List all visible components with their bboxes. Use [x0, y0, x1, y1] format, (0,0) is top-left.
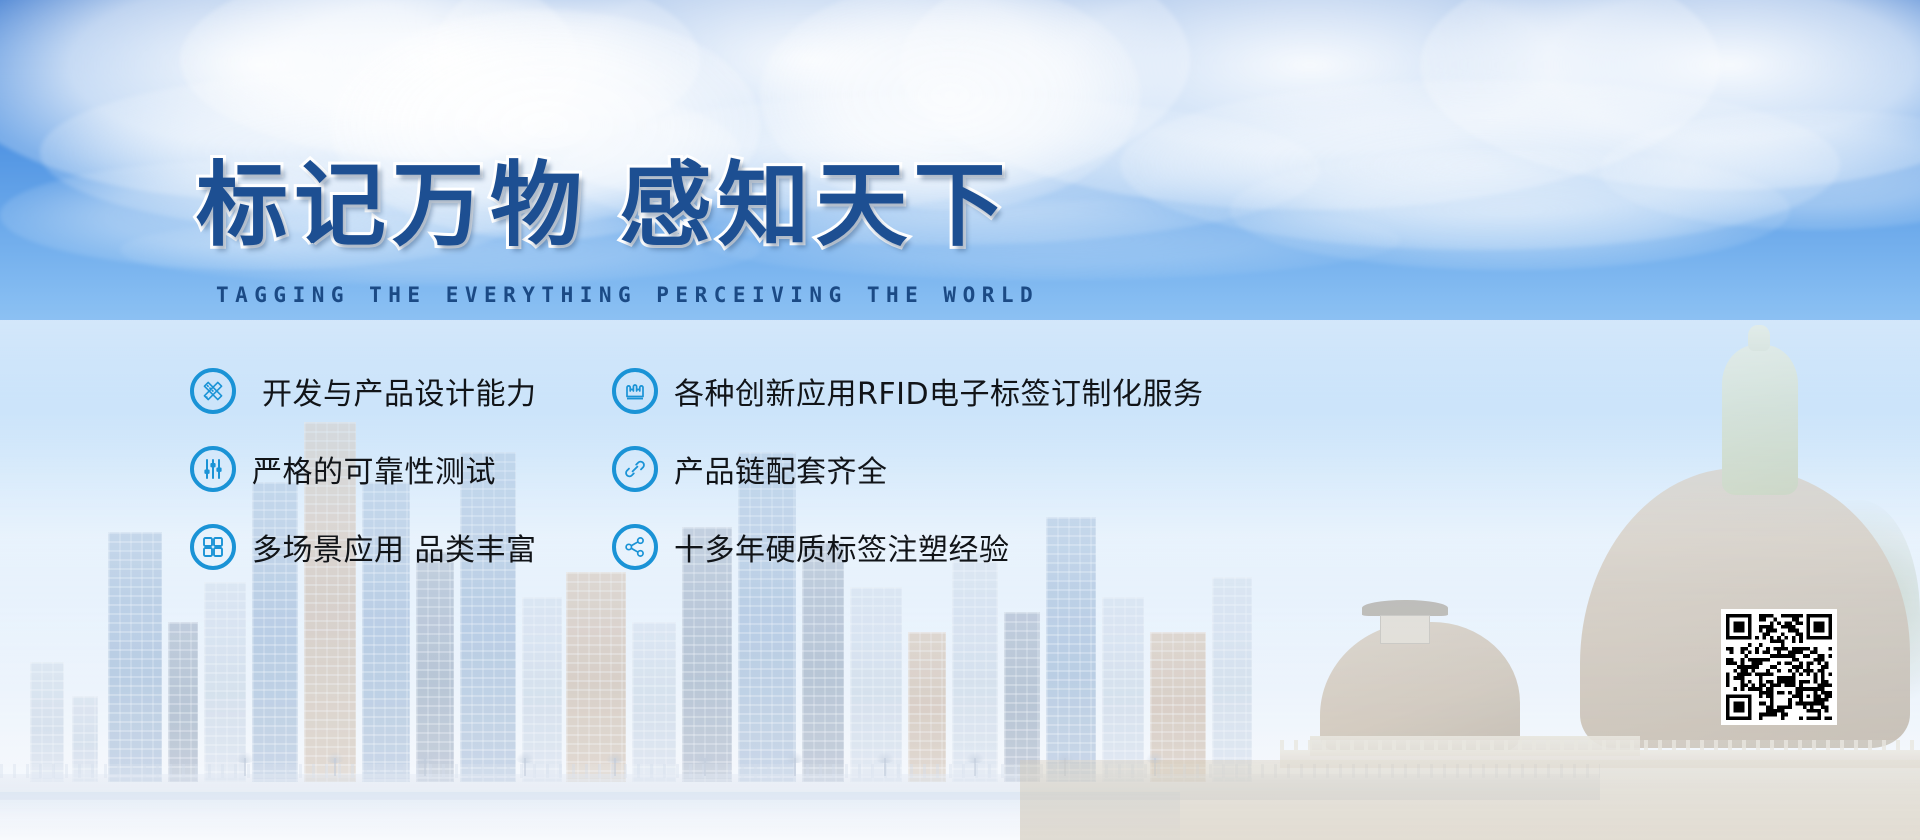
ruler-pencil-icon: [190, 368, 236, 414]
feature-item-injection-experience[interactable]: 十多年硬质标签注塑经验: [612, 508, 1204, 586]
crown-icon: [612, 368, 658, 414]
feature-item-reliability-testing[interactable]: 严格的可靠性测试: [190, 430, 537, 508]
share-icon: [612, 524, 658, 570]
feature-item-product-chain[interactable]: 产品链配套齐全: [612, 430, 1204, 508]
page-subtitle: TAGGING THE EVERYTHING PERCEIVING THE WO…: [216, 283, 1039, 307]
feature-item-custom-rfid-service[interactable]: 各种创新应用RFID电子标签订制化服务: [612, 352, 1204, 430]
sliders-icon: [190, 446, 236, 492]
feature-label: 多场景应用 品类丰富: [252, 525, 537, 569]
feature-item-design-capability[interactable]: 开发与产品设计能力: [190, 352, 537, 430]
link-icon: [612, 446, 658, 492]
marketing-banner: 标记万物 感知天下 TAGGING THE EVERYTHING PERCEIV…: [0, 0, 1920, 840]
feature-column-left: 开发与产品设计能力: [190, 352, 537, 586]
feature-item-multi-scenario[interactable]: 多场景应用 品类丰富: [190, 508, 537, 586]
feature-label: 产品链配套齐全: [674, 447, 888, 491]
feature-column-right: 各种创新应用RFID电子标签订制化服务 产品链配套齐全: [612, 352, 1204, 586]
feature-label: 开发与产品设计能力: [262, 369, 537, 413]
page-title: 标记万物 感知天下: [196, 160, 1012, 252]
qr-code[interactable]: [1721, 609, 1837, 725]
feature-label: 严格的可靠性测试: [252, 447, 496, 491]
grid-squares-icon: [190, 524, 236, 570]
feature-label: 各种创新应用RFID电子标签订制化服务: [674, 369, 1204, 413]
feature-label: 十多年硬质标签注塑经验: [674, 525, 1010, 569]
qr-code-image: [1726, 614, 1832, 720]
